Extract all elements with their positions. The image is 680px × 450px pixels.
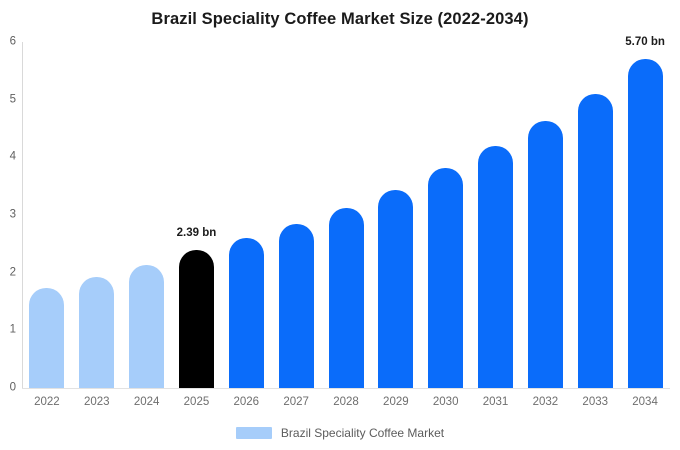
chart-title: Brazil Speciality Coffee Market Size (20… (0, 10, 680, 29)
bar-series: 2.39 bn5.70 bn (22, 42, 670, 388)
bar-group-2029 (378, 42, 413, 388)
x-axis-tick-2023: 2023 (72, 397, 122, 409)
y-axis-tick-6: 6 (0, 36, 16, 48)
bar-group-2023 (79, 42, 114, 388)
bar-2032[interactable] (528, 121, 563, 388)
y-axis-tick-0: 0 (0, 382, 16, 394)
y-axis-tick-5: 5 (0, 94, 16, 106)
bar-2029[interactable] (378, 190, 413, 388)
bar-group-2034: 5.70 bn (628, 42, 663, 388)
x-axis-tick-2031: 2031 (471, 397, 521, 409)
x-axis-tick-2034: 2034 (620, 397, 670, 409)
legend-swatch (236, 427, 272, 439)
bar-2026[interactable] (229, 238, 264, 388)
bar-2028[interactable] (329, 208, 364, 388)
bar-group-2025: 2.39 bn (179, 42, 214, 388)
x-axis-tick-2033: 2033 (570, 397, 620, 409)
bar-group-2033 (578, 42, 613, 388)
bar-group-2031 (478, 42, 513, 388)
x-axis-tick-2028: 2028 (321, 397, 371, 409)
bar-2027[interactable] (279, 224, 314, 388)
bar-2024[interactable] (129, 265, 164, 388)
x-axis-tick-2027: 2027 (271, 397, 321, 409)
bar-group-2026 (229, 42, 264, 388)
x-axis-baseline (22, 388, 670, 389)
bar-value-label-2025: 2.39 bn (177, 228, 217, 240)
x-axis-tick-2024: 2024 (122, 397, 172, 409)
y-axis-tick-4: 4 (0, 152, 16, 164)
bar-2023[interactable] (79, 277, 114, 388)
bar-2030[interactable] (428, 168, 463, 388)
x-axis-tick-2029: 2029 (371, 397, 421, 409)
bar-2034[interactable] (628, 59, 663, 388)
bar-value-label-2034: 5.70 bn (625, 37, 665, 49)
bar-group-2032 (528, 42, 563, 388)
bar-group-2028 (329, 42, 364, 388)
bar-2031[interactable] (478, 146, 513, 388)
x-axis-tick-2022: 2022 (22, 397, 72, 409)
x-axis-tick-2026: 2026 (221, 397, 271, 409)
x-axis-tick-2032: 2032 (520, 397, 570, 409)
bar-group-2030 (428, 42, 463, 388)
legend-label: Brazil Speciality Coffee Market (281, 427, 444, 439)
bar-group-2024 (129, 42, 164, 388)
bar-2033[interactable] (578, 94, 613, 388)
y-axis-tick-1: 1 (0, 325, 16, 337)
bar-2022[interactable] (29, 288, 64, 388)
bar-group-2022 (29, 42, 64, 388)
bar-2025[interactable] (179, 250, 214, 388)
x-axis-tick-2030: 2030 (421, 397, 471, 409)
bar-chart: Brazil Speciality Coffee Market Size (20… (0, 0, 680, 450)
y-axis-tick-2: 2 (0, 267, 16, 279)
x-axis-tick-2025: 2025 (172, 397, 222, 409)
bar-group-2027 (279, 42, 314, 388)
y-axis-tick-3: 3 (0, 209, 16, 221)
chart-legend: Brazil Speciality Coffee Market (0, 427, 680, 439)
